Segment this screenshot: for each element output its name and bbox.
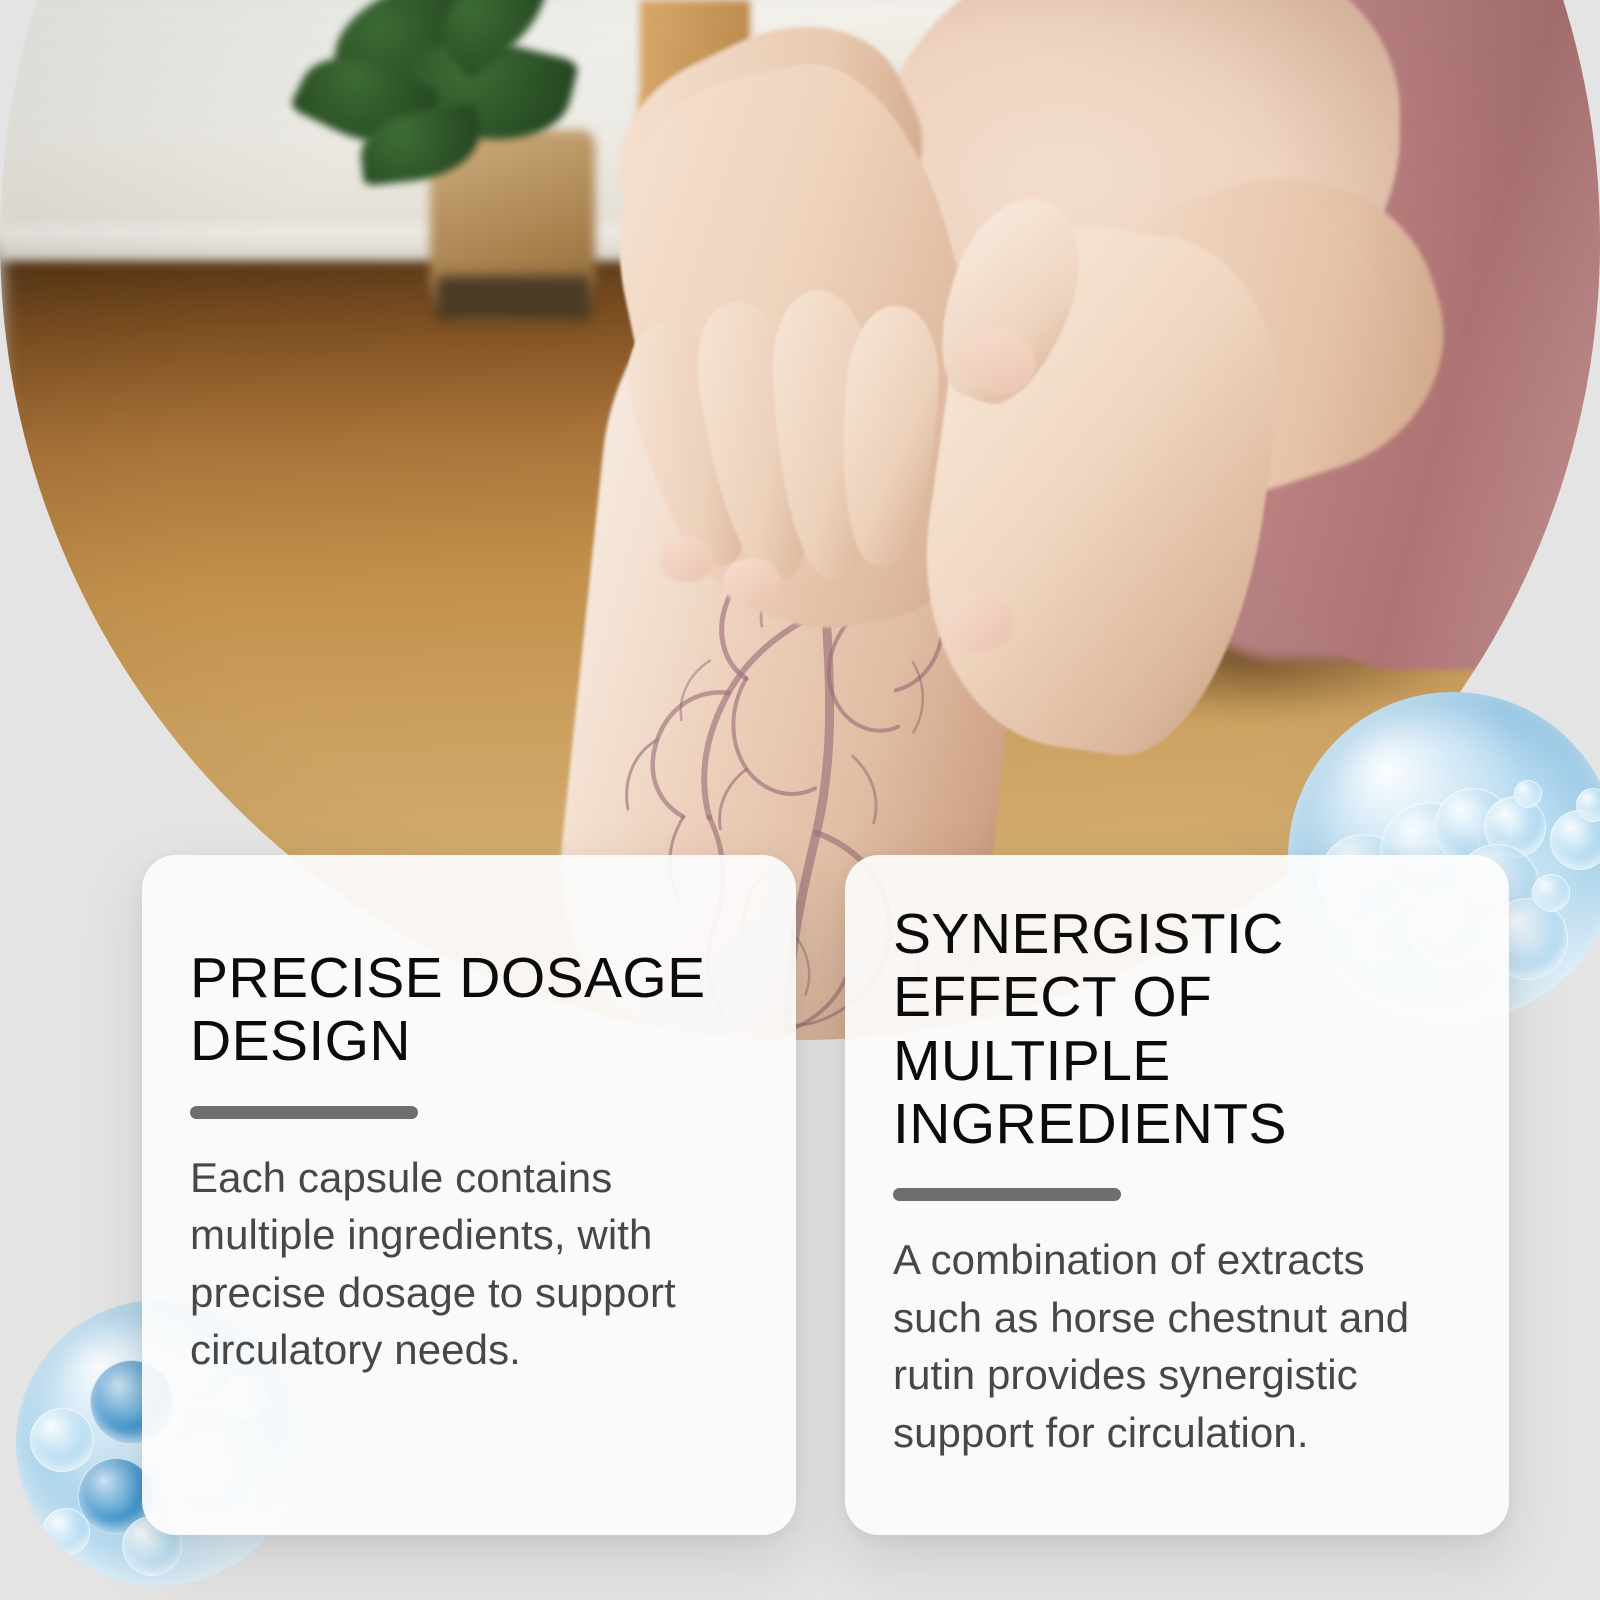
card-divider <box>893 1188 1121 1201</box>
card-heading: SYNERGISTIC EFFECT OF MULTIPLE INGREDIEN… <box>893 903 1461 1156</box>
card-body-text: A combination of extracts such as horse … <box>893 1231 1461 1461</box>
card-heading: PRECISE DOSAGE DESIGN <box>190 947 748 1074</box>
feature-card-synergistic-effect: SYNERGISTIC EFFECT OF MULTIPLE INGREDIEN… <box>845 855 1509 1535</box>
card-body-text: Each capsule contains multiple ingredien… <box>190 1149 748 1379</box>
card-divider <box>190 1106 418 1119</box>
infographic-canvas: PRECISE DOSAGE DESIGN Each capsule conta… <box>0 0 1600 1600</box>
feature-card-precise-dosage-design: PRECISE DOSAGE DESIGN Each capsule conta… <box>142 855 796 1535</box>
